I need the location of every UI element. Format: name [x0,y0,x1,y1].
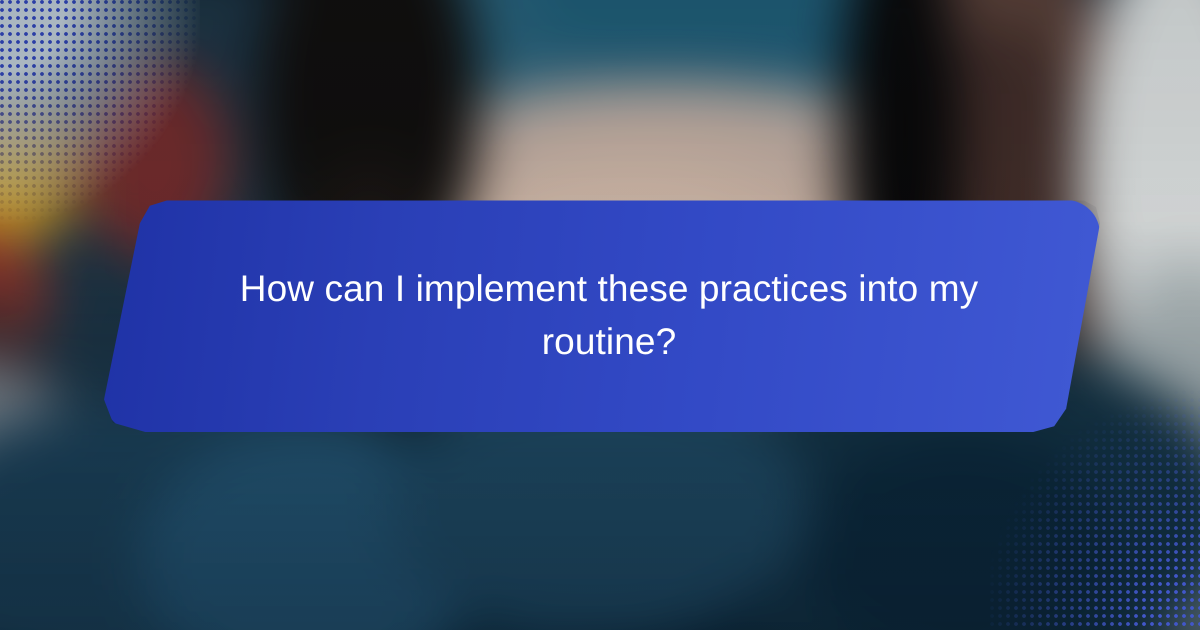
quote-card-question-text: How can I implement these practices into… [214,263,1004,368]
quote-card: How can I implement these practices into… [104,200,1100,432]
quote-card-graphic: How can I implement these practices into… [0,0,1200,630]
halftone-dots-top-left-icon [0,0,200,230]
